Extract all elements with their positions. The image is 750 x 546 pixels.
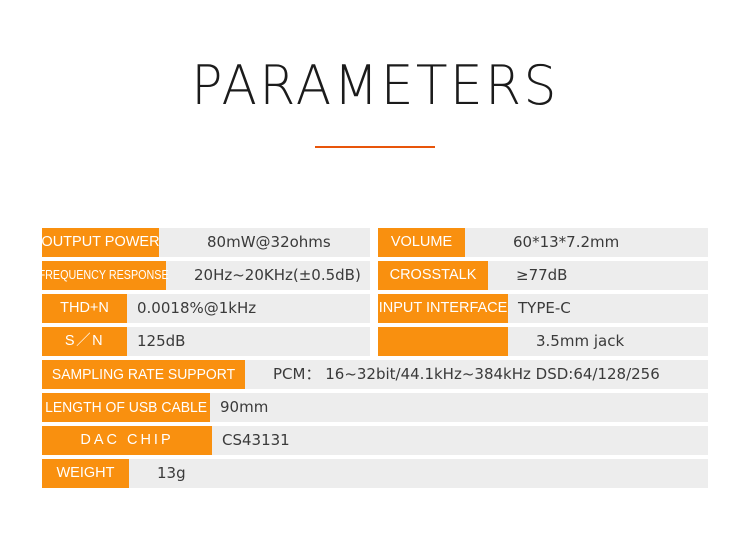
spec-pair-cable-length: LENGTH OF USB CABLE 90mm: [42, 393, 708, 422]
spec-pair-crosstalk: CROSSTALK ≥77dB: [378, 261, 708, 290]
spec-value-signal-to-noise: 125dB: [127, 327, 370, 356]
spec-value-output-interface: 3.5mm jack: [508, 327, 708, 356]
spec-pair-sampling-rate: SAMPLING RATE SUPPORT PCM： 16~32bit/44.1…: [42, 360, 708, 389]
spec-label-volume: VOLUME: [378, 228, 465, 257]
spec-label-crosstalk: CROSSTALK: [378, 261, 488, 290]
spec-label-input-interface: INPUT INTERFACE: [378, 294, 508, 323]
table-row: SAMPLING RATE SUPPORT PCM： 16~32bit/44.1…: [42, 360, 708, 389]
spec-value-crosstalk: ≥77dB: [488, 261, 708, 290]
spec-pair-input-interface: INPUT INTERFACE TYPE-C: [378, 294, 708, 323]
spec-value-cable-length: 90mm: [210, 393, 708, 422]
spec-table: OUTPUT POWER 80mW@32ohms VOLUME 60*13*7.…: [42, 228, 708, 488]
spec-value-volume: 60*13*7.2mm: [465, 228, 708, 257]
spec-pair-output-power: OUTPUT POWER 80mW@32ohms: [42, 228, 370, 257]
spec-label-signal-to-noise: S／N: [42, 327, 127, 356]
parameters-page: PARAMETERS OUTPUT POWER 80mW@32ohms VOLU…: [0, 0, 750, 546]
spec-value-input-interface: TYPE-C: [508, 294, 708, 323]
spec-pair-thd-n: THD+N 0.0018%@1kHz: [42, 294, 370, 323]
spec-label-sampling-rate-text: SAMPLING RATE SUPPORT: [52, 367, 235, 382]
spec-value-thd-n: 0.0018%@1kHz: [127, 294, 370, 323]
spec-label-frequency-response: FREQUENCY RESPONSE: [42, 261, 166, 290]
spec-label-weight: WEIGHT: [42, 459, 129, 488]
spec-label-cable-length-text: LENGTH OF USB CABLE: [45, 400, 207, 415]
spec-pair-output-interface: 3.5mm jack: [378, 327, 708, 356]
spec-value-weight: 13g: [129, 459, 708, 488]
spec-label-sampling-rate: SAMPLING RATE SUPPORT: [42, 360, 245, 389]
spec-label-thd-n: THD+N: [42, 294, 127, 323]
spec-pair-signal-to-noise: S／N 125dB: [42, 327, 370, 356]
spec-label-output-interface: [378, 327, 508, 356]
spec-label-frequency-response-text: FREQUENCY RESPONSE: [39, 269, 169, 282]
table-row: S／N 125dB 3.5mm jack: [42, 327, 708, 356]
spec-pair-volume: VOLUME 60*13*7.2mm: [378, 228, 708, 257]
table-row: THD+N 0.0018%@1kHz INPUT INTERFACE TYPE-…: [42, 294, 708, 323]
spec-pair-dac-chip: DAC CHIP CS43131: [42, 426, 708, 455]
title-block: PARAMETERS: [0, 58, 750, 148]
spec-label-output-power: OUTPUT POWER: [42, 228, 159, 257]
table-row: LENGTH OF USB CABLE 90mm: [42, 393, 708, 422]
spec-pair-weight: WEIGHT 13g: [42, 459, 708, 488]
spec-value-output-power: 80mW@32ohms: [159, 228, 370, 257]
table-row: DAC CHIP CS43131: [42, 426, 708, 455]
table-row: FREQUENCY RESPONSE 20Hz~20KHz(±0.5dB) CR…: [42, 261, 708, 290]
spec-label-cable-length: LENGTH OF USB CABLE: [42, 393, 210, 422]
spec-value-sampling-rate: PCM： 16~32bit/44.1kHz~384kHz DSD:64/128/…: [245, 360, 708, 389]
spec-pair-frequency-response: FREQUENCY RESPONSE 20Hz~20KHz(±0.5dB): [42, 261, 370, 290]
table-row: WEIGHT 13g: [42, 459, 708, 488]
spec-label-dac-chip: DAC CHIP: [42, 426, 212, 455]
spec-value-frequency-response: 20Hz~20KHz(±0.5dB): [166, 261, 370, 290]
spec-value-dac-chip: CS43131: [212, 426, 708, 455]
table-row: OUTPUT POWER 80mW@32ohms VOLUME 60*13*7.…: [42, 228, 708, 257]
title-divider: [315, 146, 435, 148]
page-title: PARAMETERS: [15, 58, 735, 115]
